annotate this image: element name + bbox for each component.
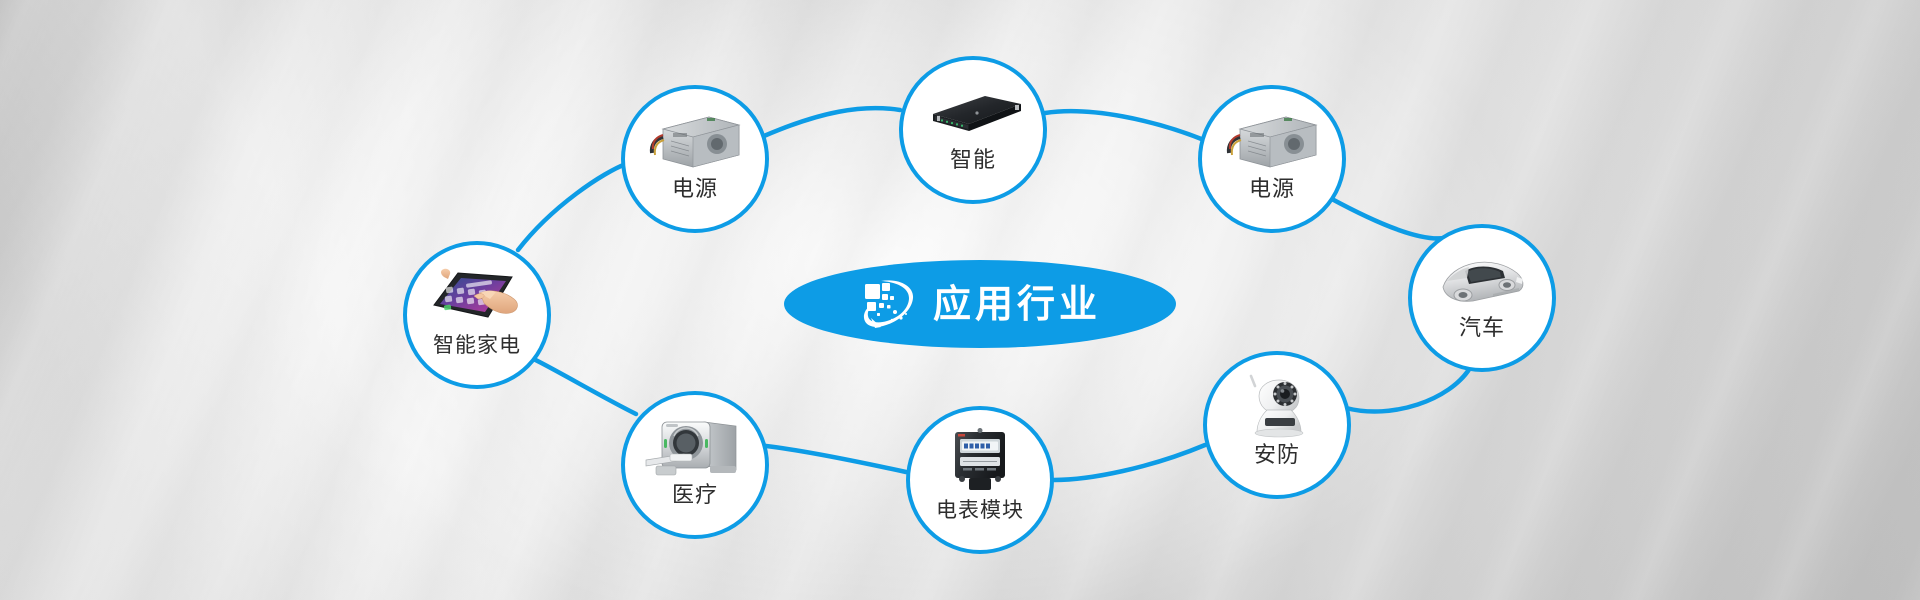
link-security-to-meter-module xyxy=(1054,445,1205,480)
application-industries-banner: 电源 xyxy=(0,0,1920,600)
ip-camera-icon xyxy=(1207,375,1347,439)
node-smart-home[interactable]: 智能家电 xyxy=(403,241,551,389)
ct-scanner-icon xyxy=(625,415,765,479)
node-label: 电表模块 xyxy=(936,500,1024,521)
electric-meter-icon xyxy=(910,430,1050,494)
link-power-left-to-smart xyxy=(764,108,900,136)
sports-car-icon xyxy=(1412,248,1552,312)
node-power-left[interactable]: 电源 xyxy=(621,85,769,233)
node-power-right[interactable]: 电源 xyxy=(1198,85,1346,233)
atx-power-supply-icon xyxy=(1202,109,1342,173)
node-label: 智能家电 xyxy=(433,335,521,356)
node-label: 电源 xyxy=(672,179,718,201)
rack-server-icon xyxy=(903,80,1043,144)
link-automotive-to-security xyxy=(1346,368,1470,412)
center-badge: 应用行业 xyxy=(784,260,1176,348)
node-label: 电源 xyxy=(1249,179,1295,201)
link-smart-to-power-right xyxy=(1045,111,1204,140)
atx-power-supply-icon xyxy=(625,109,765,173)
node-security[interactable]: 安防 xyxy=(1203,351,1351,499)
node-meter-module[interactable]: 电表模块 xyxy=(906,406,1054,554)
page-title: 应用行业 xyxy=(933,285,1101,323)
link-meter-module-to-medical xyxy=(766,446,906,472)
node-medical[interactable]: 医疗 xyxy=(621,391,769,539)
node-label: 安防 xyxy=(1254,445,1300,467)
node-label: 智能 xyxy=(950,150,996,172)
link-power-right-to-automotive xyxy=(1330,198,1452,238)
node-automotive[interactable]: 汽车 xyxy=(1408,224,1556,372)
node-smart[interactable]: 智能 xyxy=(899,56,1047,204)
tablet-touch-hand-icon xyxy=(407,265,547,329)
node-label: 医疗 xyxy=(672,485,718,507)
orbit-pixels-icon xyxy=(859,276,919,332)
link-smart-home-to-power-left xyxy=(518,164,626,250)
node-label: 汽车 xyxy=(1459,318,1505,340)
